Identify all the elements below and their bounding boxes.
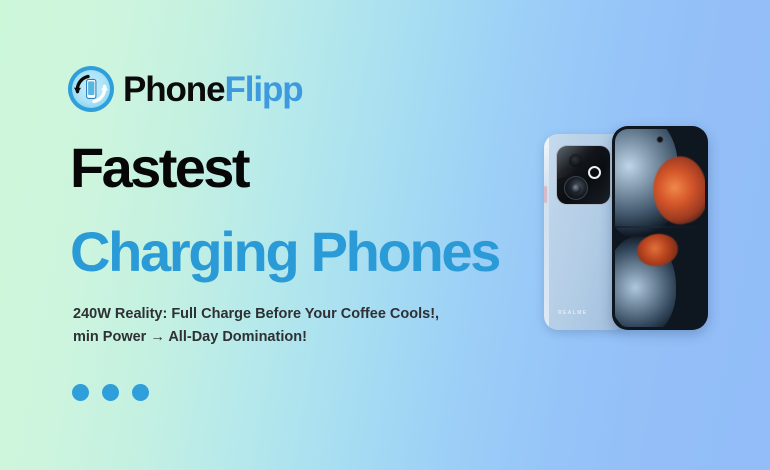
camera-ring-icon — [588, 166, 601, 179]
camera-module — [556, 145, 611, 205]
product-image: REALME — [540, 118, 720, 336]
brand-logo[interactable]: PhoneFlipp — [68, 66, 303, 112]
wallpaper-seam — [615, 226, 705, 228]
camera-lens-secondary — [569, 154, 582, 167]
camera-lens-primary — [564, 176, 588, 200]
phone-side-button — [544, 186, 547, 203]
headline-line-1: Fastest — [70, 140, 248, 196]
dot — [132, 384, 149, 401]
phone-screen — [615, 129, 705, 327]
dot — [72, 384, 89, 401]
brand-name-part2: Flipp — [224, 70, 302, 109]
phone-refresh-circle-icon — [68, 66, 114, 112]
brand-name: PhoneFlipp — [123, 72, 303, 107]
decorative-dots — [72, 384, 149, 401]
subtitle-text: 240W Reality: Full Charge Before Your Co… — [73, 303, 443, 350]
dot — [102, 384, 119, 401]
brand-name-part1: Phone — [123, 70, 224, 109]
camera-glass-sheen — [556, 145, 611, 181]
headline-line-2: Charging Phones — [70, 224, 499, 280]
phone-front-view — [612, 126, 708, 330]
front-camera-punch-hole — [657, 136, 664, 143]
phone-brand-mark: REALME — [558, 310, 588, 316]
phone-edge-highlight — [544, 134, 549, 330]
promo-banner: PhoneFlipp Fastest Charging Phones 240W … — [0, 0, 770, 470]
